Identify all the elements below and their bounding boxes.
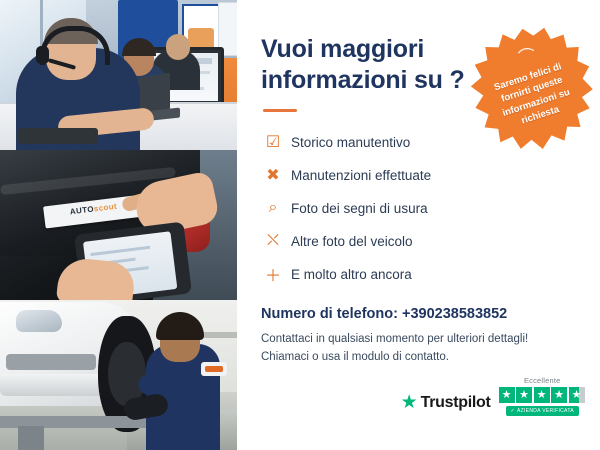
plus-icon: ＋ bbox=[261, 262, 285, 286]
page-title: Vuoi maggiori informazioni su ? bbox=[261, 34, 471, 95]
feature-list: ☑ Storico manutentivo ✖ Manutenzioni eff… bbox=[261, 128, 580, 288]
verified-business-badge: ✓ AZIENDA VERIFICATA bbox=[506, 406, 579, 416]
tools-cross-icon: ✖ bbox=[261, 165, 285, 185]
star-rating: ★ ★ ★ ★ ★ bbox=[499, 387, 587, 403]
trustpilot-wordmark: Trustpilot bbox=[421, 394, 491, 412]
contact-description: Contattaci in qualsiasi momento per ulte… bbox=[261, 331, 580, 367]
tablet-screen-line bbox=[90, 246, 150, 256]
phone-label: Numero di telefono: bbox=[261, 306, 398, 322]
vehicle-info-ad: AUTOscout bbox=[0, 0, 600, 450]
list-item: ＋ E molto altro ancora bbox=[261, 260, 580, 288]
feature-label: Altre foto del veicolo bbox=[291, 234, 413, 249]
star-icon: ★ bbox=[534, 387, 550, 403]
car-headlight bbox=[16, 310, 62, 332]
headset-earpiece-icon bbox=[36, 46, 49, 64]
contact-line-1: Contattaci in qualsiasi momento per ulte… bbox=[261, 331, 580, 349]
vehicle-lift-column bbox=[18, 426, 44, 450]
list-item: ⛌ Altre foto del veicolo bbox=[261, 227, 580, 255]
rating-label: Eccellente bbox=[524, 376, 561, 385]
list-item: ⌕ Foto dei segni di usura bbox=[261, 194, 580, 222]
verified-badge-label: AZIENDA VERIFICATA bbox=[517, 408, 574, 414]
trustpilot-score-block: Eccellente ★ ★ ★ ★ ★ ✓ AZIENDA VERIFICAT… bbox=[499, 376, 587, 416]
trustpilot-logo: ★ Trustpilot bbox=[401, 393, 491, 416]
star-icon: ★ bbox=[551, 387, 567, 403]
photo-applying-label-to-car-with-tablet: AUTOscout bbox=[0, 150, 237, 300]
scan-vehicle-icon: ⛌ bbox=[261, 232, 285, 250]
check-icon: ✓ bbox=[511, 408, 516, 414]
trustpilot-star-icon: ★ bbox=[401, 393, 418, 412]
magnifier-icon: ⌕ bbox=[261, 199, 285, 217]
feature-label: Foto dei segni di usura bbox=[291, 201, 428, 216]
uniform-logo-badge bbox=[201, 362, 227, 376]
photo-call-center-agents-with-headsets bbox=[0, 0, 237, 150]
contact-line-2: Chiamaci o usa il modulo di contatto. bbox=[261, 349, 580, 367]
background-person-three-head bbox=[166, 34, 190, 60]
title-underline-rule bbox=[263, 109, 297, 112]
phone-line: Numero di telefono: +390238583852 bbox=[261, 306, 580, 322]
car-grille bbox=[6, 354, 96, 370]
feature-label: Manutenzioni effettuate bbox=[291, 168, 431, 183]
list-item: ✖ Manutenzioni effettuate bbox=[261, 161, 580, 189]
star-icon-half: ★ bbox=[569, 387, 585, 403]
feature-label: Storico manutentivo bbox=[291, 135, 410, 150]
photo-column: AUTOscout bbox=[0, 0, 237, 450]
star-icon: ★ bbox=[499, 387, 515, 403]
clipboard-check-icon: ☑ bbox=[261, 132, 285, 152]
phone-number[interactable]: +390238583852 bbox=[402, 306, 507, 322]
feature-label: E molto altro ancora bbox=[291, 267, 412, 282]
content-panel: Vuoi maggiori informazioni su ? ⌒ Saremo… bbox=[237, 0, 600, 450]
star-icon: ★ bbox=[516, 387, 532, 403]
trustpilot-rating[interactable]: ★ Trustpilot Eccellente ★ ★ ★ ★ ★ ✓ AZIE… bbox=[401, 376, 586, 416]
promo-badge: ⌒ Saremo felici di fornirti queste infor… bbox=[463, 19, 600, 158]
photo-mechanic-inspecting-front-wheel bbox=[0, 300, 237, 450]
sticker-brand-text: AUTOscout bbox=[69, 202, 117, 217]
keyboard bbox=[18, 128, 98, 144]
